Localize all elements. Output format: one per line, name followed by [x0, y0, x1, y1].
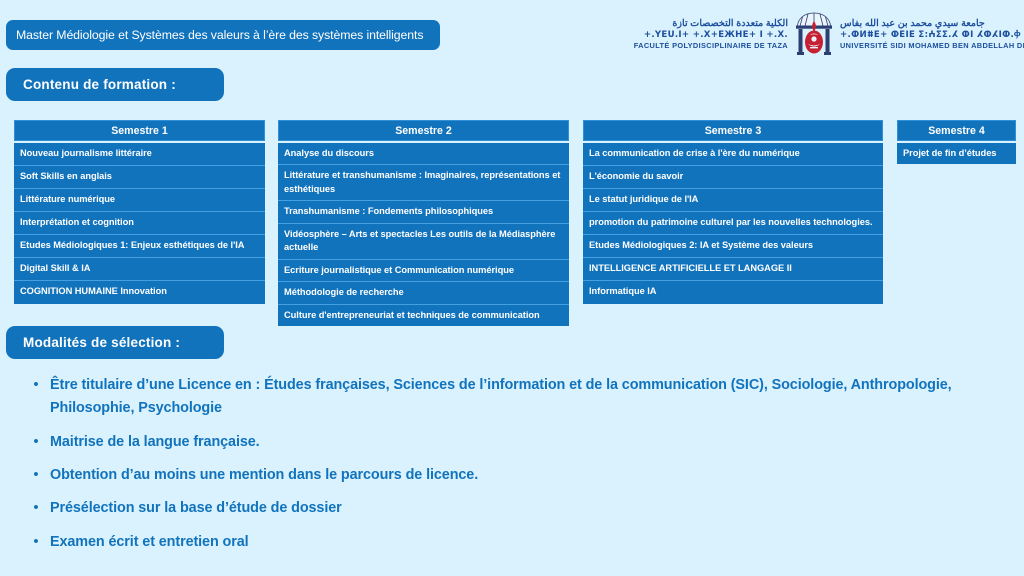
list-item: • Être titulaire d’une Licence en : Étud…	[22, 374, 1012, 421]
faculty-name-arabic: الكلية متعددة التخصصات تازة	[672, 18, 788, 30]
list-item: • Examen écrit et entretien oral	[22, 531, 1012, 554]
semester-title: Semestre 4	[897, 120, 1016, 141]
course-item: La communication de crise à l'ère du num…	[583, 143, 883, 166]
bullet-icon: •	[22, 531, 50, 553]
course-item: Vidéosphère – Arts et spectacles Les out…	[278, 224, 569, 260]
criteria-text: Être titulaire d’une Licence en : Études…	[50, 374, 1012, 421]
course-item: Etudes Médiologiques 1: Enjeux esthétiqu…	[14, 235, 265, 258]
course-item: L'économie du savoir	[583, 166, 883, 189]
course-item: Ecriture journalistique et Communication…	[278, 260, 569, 282]
course-item: Etudes Médiologiques 2: IA et Système de…	[583, 235, 883, 258]
semester-column-4: Semestre 4 Projet de fin d’études	[897, 120, 1016, 164]
semester-title: Semestre 2	[278, 120, 569, 141]
criteria-text: Obtention d’au moins une mention dans le…	[50, 464, 478, 487]
course-item: Digital Skill & IA	[14, 258, 265, 281]
university-name-arabic: جامعة سيدي محمد بن عبد الله بفاس	[840, 18, 985, 30]
criteria-text: Examen écrit et entretien oral	[50, 531, 249, 554]
faculty-name-french: FACULTÉ POLYDISCIPLINAIRE DE TAZA	[634, 41, 788, 50]
course-item: Soft Skills en anglais	[14, 166, 265, 189]
university-name-tifinagh: +.ⵀⵍⵌE+ ⵀEⵏE ⵉ:ⵄⵉⵉ.ⵃ ⵀI ⵃⵀⵃⵏⵀ.Ⲫ I Ⲭ.ⵀ	[840, 30, 1024, 41]
selection-criteria-list: • Être titulaire d’une Licence en : Étud…	[22, 374, 1012, 564]
faculty-name-tifinagh: +.YEU.I+ +.X+EЖHE+ I +.X.	[644, 30, 788, 41]
university-name-french: UNIVERSITÉ SIDI MOHAMED BEN ABDELLAH DE …	[840, 41, 1024, 50]
semester-course-list: Nouveau journalisme littéraire Soft Skil…	[14, 143, 265, 304]
course-item: Nouveau journalisme littéraire	[14, 143, 265, 166]
course-item: COGNITION HUMAINE Innovation	[14, 281, 265, 304]
section-heading-contenu: Contenu de formation :	[6, 68, 224, 101]
course-item: Méthodologie de recherche	[278, 282, 569, 304]
course-item: Le statut juridique de l'IA	[583, 189, 883, 212]
bullet-icon: •	[22, 464, 50, 486]
course-item: Littérature numérique	[14, 189, 265, 212]
list-item: • Présélection sur la base d’étude de do…	[22, 497, 1012, 520]
semester-column-2: Semestre 2 Analyse du discours Littératu…	[278, 120, 569, 326]
faculty-logo-text: الكلية متعددة التخصصات تازة +.YEU.I+ +.X…	[566, 18, 788, 51]
page-title: Master Médiologie et Systèmes des valeur…	[6, 20, 440, 50]
bullet-icon: •	[22, 374, 50, 396]
semester-course-list: Projet de fin d’études	[897, 143, 1016, 164]
semester-course-list: La communication de crise à l'ère du num…	[583, 143, 883, 304]
criteria-text: Présélection sur la base d’étude de doss…	[50, 497, 342, 520]
bullet-icon: •	[22, 497, 50, 519]
list-item: • Maitrise de la langue française.	[22, 431, 1012, 454]
course-item: Analyse du discours	[278, 143, 569, 165]
semester-column-3: Semestre 3 La communication de crise à l…	[583, 120, 883, 304]
course-item: INTELLIGENCE ARTIFICIELLE ET LANGAGE II	[583, 258, 883, 281]
course-item: Projet de fin d’études	[897, 143, 1016, 164]
course-item: Informatique IA	[583, 281, 883, 304]
course-item: Littérature et transhumanisme : Imaginai…	[278, 165, 569, 201]
semester-course-list: Analyse du discours Littérature et trans…	[278, 143, 569, 326]
course-item: promotion du patrimoine culturel par les…	[583, 212, 883, 235]
course-item: Interprétation et cognition	[14, 212, 265, 235]
semester-title: Semestre 1	[14, 120, 265, 141]
semester-column-1: Semestre 1 Nouveau journalisme littérair…	[14, 120, 265, 304]
semester-title: Semestre 3	[583, 120, 883, 141]
university-logo-text: جامعة سيدي محمد بن عبد الله بفاس +.ⵀⵍⵌE+…	[840, 18, 1018, 51]
section-heading-modalites: Modalités de sélection :	[6, 326, 224, 359]
course-item: Transhumanisme : Fondements philosophiqu…	[278, 201, 569, 223]
course-item: Culture d'entrepreneuriat et techniques …	[278, 305, 569, 326]
university-seal-icon	[792, 9, 836, 59]
criteria-text: Maitrise de la langue française.	[50, 431, 260, 454]
bullet-icon: •	[22, 431, 50, 453]
list-item: • Obtention d’au moins une mention dans …	[22, 464, 1012, 487]
institution-logo: الكلية متعددة التخصصات تازة +.YEU.I+ +.X…	[566, 8, 1018, 60]
